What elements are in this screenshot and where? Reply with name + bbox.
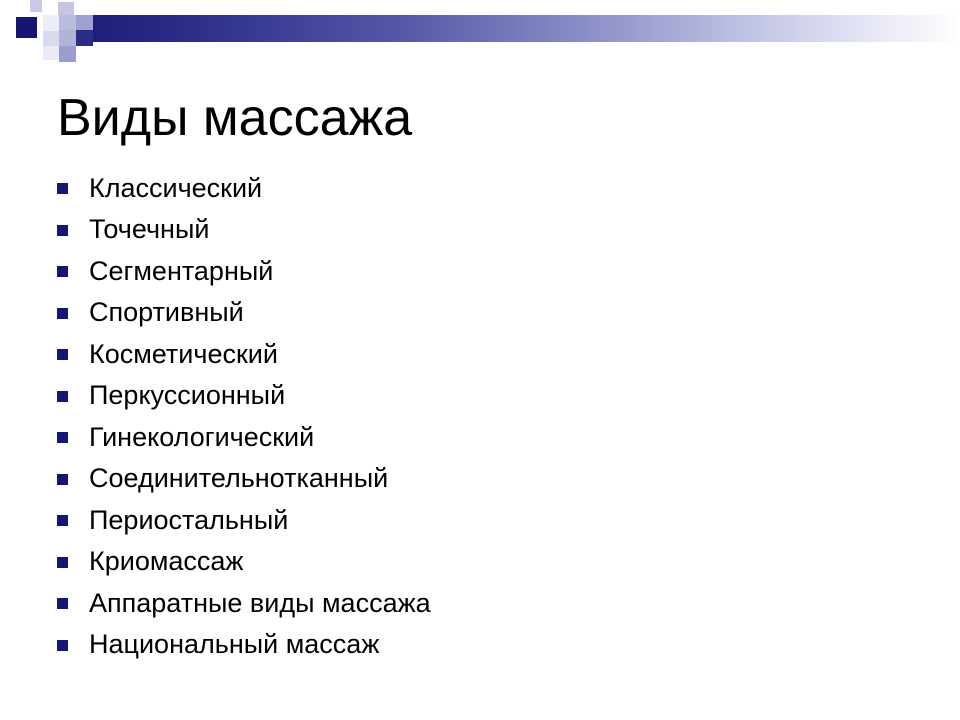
bullet-square-icon (57, 474, 68, 485)
list-item-label: Перкуссионный (89, 380, 285, 410)
list-item: Классический (57, 167, 897, 209)
bullet-square-icon (57, 557, 68, 568)
header-gradient-bar (93, 15, 960, 42)
bullet-square-icon (57, 308, 68, 319)
bullet-square-icon (57, 598, 68, 609)
slide: Виды массажа Классический Точечный Сегме… (0, 0, 960, 720)
list-item-label: Национальный массаж (89, 629, 379, 659)
deco-square-icon (59, 15, 76, 30)
list-item: Перкуссионный (57, 375, 897, 417)
list-item: Аппаратные виды массажа (57, 582, 897, 624)
bullet-square-icon (57, 225, 68, 236)
deco-square-icon (59, 30, 76, 46)
deco-square-icon (43, 46, 59, 60)
deco-square-icon (43, 15, 59, 31)
list-item: Периостальный (57, 499, 897, 541)
list-item-label: Периостальный (89, 505, 288, 535)
deco-square-dark-icon (16, 17, 37, 38)
deco-square-icon (76, 30, 93, 46)
bullet-square-icon (57, 349, 68, 360)
bullet-square-icon (57, 391, 68, 402)
bullet-square-icon (57, 640, 68, 651)
list-item: Национальный массаж (57, 624, 897, 666)
list-item-label: Точечный (89, 214, 209, 244)
deco-square-icon (59, 46, 76, 62)
bullet-square-icon (57, 515, 68, 526)
list-item-label: Спортивный (89, 297, 244, 327)
list-item: Спортивный (57, 292, 897, 334)
bullet-square-icon (57, 432, 68, 443)
deco-square-icon (30, 0, 42, 12)
list-item: Косметический (57, 333, 897, 375)
list-item: Сегментарный (57, 250, 897, 292)
list-item: Гинекологический (57, 416, 897, 458)
list-item-label: Криомассаж (89, 546, 244, 576)
list-item-label: Гинекологический (89, 422, 314, 452)
list-item-label: Косметический (89, 339, 278, 369)
deco-square-icon (43, 31, 59, 46)
bullet-square-icon (57, 266, 68, 277)
page-title: Виды массажа (57, 88, 412, 148)
list-item: Точечный (57, 209, 897, 251)
header-decoration (0, 0, 960, 72)
bullet-square-icon (57, 183, 68, 194)
list-item-label: Классический (89, 173, 262, 203)
deco-square-icon (76, 15, 93, 30)
list-item-label: Сегментарный (89, 256, 273, 286)
deco-square-icon (58, 2, 74, 15)
list-item: Криомассаж (57, 541, 897, 583)
massage-types-list: Классический Точечный Сегментарный Спорт… (57, 167, 897, 665)
list-item-label: Аппаратные виды массажа (89, 588, 431, 618)
list-item-label: Соединительнотканный (89, 463, 388, 493)
list-item: Соединительнотканный (57, 458, 897, 500)
